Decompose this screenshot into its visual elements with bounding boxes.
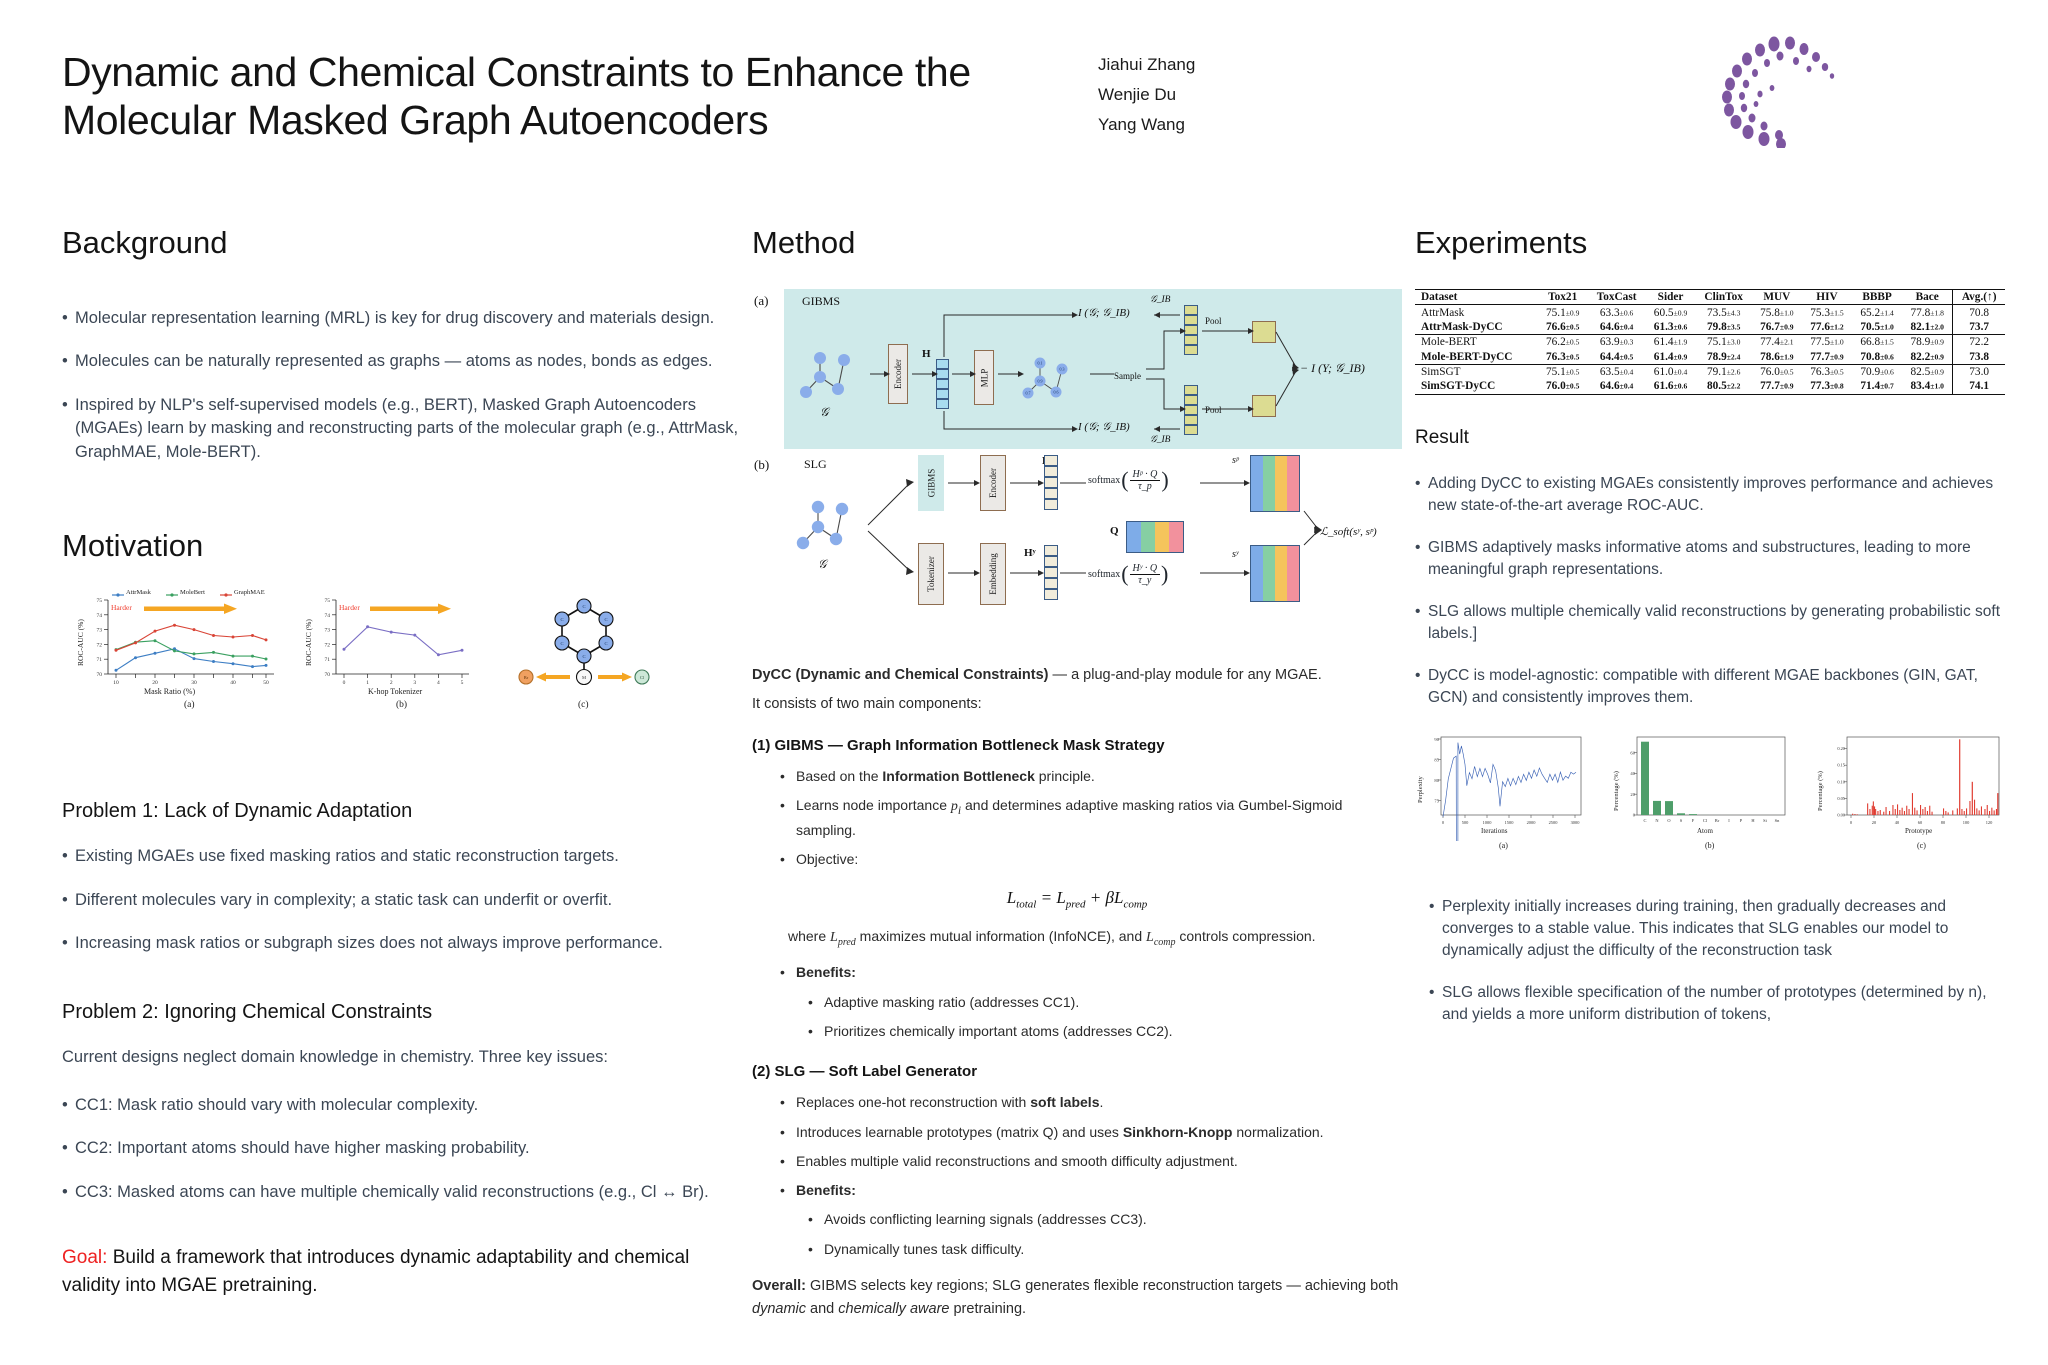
experiments-bottom-bullets: • Perplexity initially increases during … [1429, 896, 2015, 1026]
list-item: • Introduces learnable prototypes (matri… [780, 1122, 1402, 1142]
bullet-dot-icon: • [1415, 601, 1428, 645]
item-post: normalization. [1232, 1124, 1323, 1140]
dycc-name: DyCC (Dynamic and Chemical Constraints) [752, 667, 1049, 683]
svg-text:90: 90 [1434, 737, 1439, 742]
bullet-dot-icon: • [808, 1239, 824, 1259]
table-cell: 77.4±2.1 [1752, 335, 1802, 350]
panel-tag-c: (c) [578, 700, 589, 710]
col-bbbp: BBBP [1852, 290, 1902, 305]
list-item: • Objective: [780, 849, 1402, 869]
bullet-dot-icon: • [780, 1180, 796, 1200]
benefit-text: Dynamically tunes task difficulty. [824, 1239, 1024, 1259]
svg-text:5: 5 [461, 680, 464, 686]
svg-text:4: 4 [437, 680, 440, 686]
chart-annotation-harder: Harder [339, 603, 360, 612]
section-heading-background: Background [62, 225, 742, 261]
svg-text:N: N [1655, 818, 1659, 823]
problem-2-intro: Current designs neglect domain knowledge… [62, 1046, 742, 1069]
experiments-figure: 90858075 05001000 1500200025003000 Perpl… [1415, 731, 2005, 856]
svg-text:H: H [1751, 818, 1755, 823]
x-axis-label: Mask Ratio (%) [144, 687, 195, 696]
svg-text:60: 60 [1918, 820, 1923, 825]
table-cell: 61.0±0.4 [1645, 364, 1695, 379]
bullet-dot-icon: • [780, 1122, 796, 1142]
results-table: Dataset Tox21 ToxCast Sider ClinTox MUV … [1415, 289, 2005, 395]
author-list: Jiahui Zhang Wenjie Du Yang Wang [1098, 50, 1195, 139]
gibms-connectors [784, 289, 1402, 449]
y-axis-label: ROC-AUC (%) [304, 619, 313, 666]
table-cell: 71.4±0.7 [1852, 379, 1902, 394]
svg-text:85: 85 [1434, 757, 1439, 762]
bullet-dot-icon: • [808, 1021, 824, 1041]
table-cell: 70.8±0.6 [1852, 350, 1902, 365]
bullet-dot-icon: • [62, 394, 75, 464]
bullet-dot-icon: • [1415, 473, 1428, 517]
overall-italic-1: dynamic [752, 1301, 806, 1317]
svg-text:C: C [560, 617, 563, 622]
table-cell: 61.4±0.9 [1645, 350, 1695, 365]
svg-text:C: C [604, 617, 607, 622]
table-cell: 77.7±0.9 [1802, 350, 1852, 365]
problem-1-block: Problem 1: Lack of Dynamic Adaptation • … [62, 800, 742, 955]
table-cell: 75.1±0.5 [1538, 364, 1588, 379]
section-heading-experiments: Experiments [1415, 225, 2015, 261]
svg-text:72: 72 [97, 643, 103, 649]
overall-text: GIBMS selects key regions; SLG generates… [806, 1278, 1398, 1294]
table-row: AttrMask75.1±0.963.3±0.660.5±0.973.5±4.3… [1415, 305, 2005, 320]
table-cell: 70.9±0.6 [1852, 364, 1902, 379]
panel-tag-a: (a) [184, 700, 195, 710]
bullet-text: Inspired by NLP's self-supervised models… [75, 394, 742, 464]
section-heading-method: Method [752, 225, 1402, 261]
table-cell: 75.1±3.0 [1696, 335, 1752, 350]
table-cell: 82.2±0.9 [1902, 350, 1953, 365]
col-hiv: HIV [1802, 290, 1852, 305]
problem-2-heading: Problem 2: Ignoring Chemical Constraints [62, 1001, 742, 1024]
svg-text:C: C [582, 604, 585, 609]
bullet-dot-icon: • [808, 1209, 824, 1229]
svg-text:3000: 3000 [1571, 820, 1581, 825]
panel-tag-b: (b) [1705, 841, 1714, 850]
svg-text:I: I [1728, 818, 1730, 823]
chart-exp-a: 90858075 05001000 1500200025003000 Perpl… [1415, 731, 1585, 841]
table-cell: 75.8±1.0 [1752, 305, 1802, 320]
problem-1-heading: Problem 1: Lack of Dynamic Adaptation [62, 800, 742, 823]
table-cell: 78.9±0.9 [1902, 335, 1953, 350]
list-item: • Replaces one-hot reconstruction with s… [780, 1092, 1402, 1112]
background-bullets: • Molecular representation learning (MRL… [62, 307, 742, 464]
row-label: SimSGT [1415, 364, 1538, 379]
col-dataset: Dataset [1415, 290, 1538, 305]
svg-text:30: 30 [191, 680, 197, 686]
table-cell-avg: 73.7 [1953, 320, 2005, 335]
table-cell: 83.4±1.0 [1902, 379, 1953, 394]
section-heading-motivation: Motivation [62, 528, 742, 564]
col-tox21: Tox21 [1538, 290, 1588, 305]
dycc-desc: — a plug-and-play module for any MGAE. [1049, 667, 1322, 683]
list-item: • Avoids conflicting learning signals (a… [808, 1209, 1402, 1229]
bullet-dot-icon: • [780, 1092, 796, 1112]
svg-text:0: 0 [1442, 820, 1445, 825]
author-name: Wenjie Du [1098, 80, 1195, 110]
table-cell: 65.2±1.4 [1852, 305, 1902, 320]
svg-text:Br: Br [1715, 818, 1720, 823]
chart-exp-b: 0204060 [1611, 731, 1791, 841]
list-item: • CC3: Masked atoms can have multiple ch… [62, 1181, 742, 1204]
table-row: SimSGT-DyCC76.0±0.564.6±0.461.6±0.680.5±… [1415, 379, 2005, 394]
result-bullets: • Adding DyCC to existing MGAEs consiste… [1415, 473, 2015, 709]
bullet-dot-icon: • [62, 1094, 75, 1117]
poster-header: Dynamic and Chemical Constraints to Enha… [0, 0, 2048, 175]
svg-text:71: 71 [325, 657, 331, 663]
bullet-text: Increasing mask ratios or subgraph sizes… [75, 932, 663, 955]
author-name: Yang Wang [1098, 110, 1195, 140]
svg-text:120: 120 [1986, 820, 1993, 825]
list-item: • Enables multiple valid reconstructions… [780, 1151, 1402, 1171]
svg-text:Cl: Cl [1703, 818, 1708, 823]
svg-text:73: 73 [97, 628, 103, 634]
bullet-text: Different molecules vary in complexity; … [75, 889, 612, 912]
x-axis-label: Atom [1697, 827, 1713, 835]
legend-entry: MoleBert [180, 589, 205, 596]
table-row: Mole-BERT-DyCC76.3±0.564.4±0.561.4±0.978… [1415, 350, 2005, 365]
bullet-dot-icon: • [780, 766, 796, 786]
table-cell: 75.3±1.5 [1802, 305, 1852, 320]
svg-text:50: 50 [263, 680, 269, 686]
objective-formula: Ltotal = Lpred + βLcomp [752, 888, 1402, 910]
table-cell: 77.8±1.8 [1902, 305, 1953, 320]
list-item: • SLG allows flexible specification of t… [1429, 982, 2015, 1026]
table-cell: 76.6±0.5 [1538, 320, 1588, 335]
svg-text:100: 100 [1963, 820, 1970, 825]
neurips-logo: NEURAL INFORMATION PROCESSING SYSTEMS [1712, 36, 2012, 148]
item-bold: soft labels [1030, 1094, 1099, 1110]
table-cell: 60.5±0.9 [1645, 305, 1695, 320]
table-cell: 76.7±0.9 [1752, 320, 1802, 335]
table-row: AttrMask-DyCC76.6±0.564.6±0.461.3±0.679.… [1415, 320, 2005, 335]
y-axis-label: Perplexity [1417, 776, 1424, 803]
table-cell: 66.8±1.5 [1852, 335, 1902, 350]
bullet-dot-icon: • [62, 350, 75, 373]
row-label: SimSGT-DyCC [1415, 379, 1538, 394]
list-item: • CC1: Mask ratio should vary with molec… [62, 1094, 742, 1117]
bullet-dot-icon: • [780, 962, 796, 982]
item-bold: Information Bottleneck [882, 768, 1034, 784]
list-item: • CC2: Important atoms should have highe… [62, 1137, 742, 1160]
diagram-motivation-c: CCC CCC M Br Cl (c) [498, 592, 678, 690]
svg-text:F: F [1692, 818, 1695, 823]
problem-2-block: Problem 2: Ignoring Chemical Constraints… [62, 1001, 742, 1204]
column-experiments: Experiments Dataset Tox21 ToxCast Sider … [1415, 225, 2015, 1046]
table-cell: 64.4±0.5 [1588, 350, 1646, 365]
diagram-gibms: GIBMS 𝒢 Encoder H [784, 289, 1402, 449]
table-cell-avg: 74.1 [1953, 379, 2005, 394]
table-row: SimSGT75.1±0.563.5±0.461.0±0.479.1±2.676… [1415, 364, 2005, 379]
table-cell-avg: 72.2 [1953, 335, 2005, 350]
bullet-dot-icon: • [1429, 982, 1442, 1026]
list-item: • Increasing mask ratios or subgraph siz… [62, 932, 742, 955]
svg-text:500: 500 [1462, 820, 1469, 825]
list-item: • Inspired by NLP's self-supervised mode… [62, 394, 742, 464]
bullet-text: Perplexity initially increases during tr… [1442, 896, 2015, 962]
svg-text:40: 40 [1895, 820, 1900, 825]
col-bace: Bace [1902, 290, 1953, 305]
svg-text:P: P [1740, 818, 1743, 823]
svg-text:0: 0 [343, 680, 346, 686]
bullet-text: CC2: Important atoms should have higher … [75, 1137, 530, 1160]
svg-text:40: 40 [1630, 771, 1635, 776]
benefit-text: Prioritizes chemically important atoms (… [824, 1021, 1173, 1041]
y-axis-label: Percentage (%) [1613, 771, 1620, 811]
method-section1-heading: (1) GIBMS — Graph Information Bottleneck… [752, 737, 1402, 754]
svg-text:80: 80 [1941, 820, 1946, 825]
col-sider: Sider [1645, 290, 1695, 305]
table-cell: 61.4±1.9 [1645, 335, 1695, 350]
list-item: • SLG allows multiple chemically valid r… [1415, 601, 2015, 645]
result-heading: Result [1415, 427, 2015, 449]
chart-motivation-a: 707172 737475 102030 4050 [66, 592, 281, 690]
neurips-swirl-icon [1712, 36, 2012, 148]
item-italic: p [951, 799, 958, 814]
page-title: Dynamic and Chemical Constraints to Enha… [62, 48, 1072, 145]
svg-text:2500: 2500 [1549, 820, 1559, 825]
item-pre: Objective: [796, 849, 858, 869]
benefit-text: Adaptive masking ratio (addresses CC1). [824, 992, 1079, 1012]
bullet-dot-icon: • [62, 845, 75, 868]
table-row: Mole-BERT76.2±0.563.9±0.361.4±1.975.1±3.… [1415, 335, 2005, 350]
slg-connectors [752, 453, 1402, 643]
svg-text:C: C [604, 641, 607, 646]
y-axis-label: Percentage (%) [1817, 771, 1824, 811]
svg-text:70: 70 [97, 672, 103, 678]
bullet-dot-icon: • [62, 1181, 75, 1204]
panel-tag-a: (a) [754, 293, 768, 309]
table-cell: 77.7±0.9 [1752, 379, 1802, 394]
bullet-dot-icon: • [780, 795, 796, 840]
item-pre: Based on the [796, 768, 882, 784]
table-cell-avg: 70.8 [1953, 305, 2005, 320]
panel-tag-c: (c) [1917, 841, 1926, 850]
bullet-dot-icon: • [1429, 896, 1442, 962]
diagram-gibms-wrapper: (a) GIBMS 𝒢 Encoder H [752, 289, 1402, 449]
list-item: • GIBMS adaptively masks informative ato… [1415, 537, 2015, 581]
table-cell: 82.1±2.0 [1902, 320, 1953, 335]
row-label: AttrMask [1415, 305, 1538, 320]
chart-motivation-b: 707172 737475 012 345 [294, 592, 474, 690]
table-cell: 76.3±0.5 [1538, 350, 1588, 365]
list-item: • Molecules can be naturally represented… [62, 350, 742, 373]
bullet-text: CC3: Masked atoms can have multiple chem… [75, 1181, 709, 1204]
svg-text:0: 0 [1850, 820, 1853, 825]
svg-text:73: 73 [325, 628, 331, 634]
col-muv: MUV [1752, 290, 1802, 305]
list-item: • Benefits: [780, 1180, 1402, 1200]
panel-tag-a: (a) [1499, 841, 1508, 850]
table-cell-avg: 73.0 [1953, 364, 2005, 379]
row-label: AttrMask-DyCC [1415, 320, 1538, 335]
list-item: • Based on the Information Bottleneck pr… [780, 766, 1402, 786]
table-cell: 82.5±0.9 [1902, 364, 1953, 379]
table-cell: 64.6±0.4 [1588, 320, 1646, 335]
list-item: • Adaptive masking ratio (addresses CC1)… [808, 992, 1402, 1012]
table-cell: 77.3±0.8 [1802, 379, 1852, 394]
x-axis-label: Prototype [1905, 827, 1932, 835]
table-cell: 76.2±0.5 [1538, 335, 1588, 350]
col-clintox: ClinTox [1696, 290, 1752, 305]
motivation-figure: 707172 737475 102030 4050 [66, 592, 678, 712]
table-cell: 63.9±0.3 [1588, 335, 1646, 350]
method-intro: DyCC (Dynamic and Chemical Constraints) … [752, 665, 1402, 686]
goal-label: Goal: [62, 1247, 107, 1268]
bullet-text: DyCC is model-agnostic: compatible with … [1428, 665, 2015, 709]
x-axis-label: K-hop Tokenizer [368, 687, 422, 696]
item-pre: Enables multiple valid reconstructions a… [796, 1151, 1238, 1171]
list-item: • Learns node importance pi and determin… [780, 795, 1402, 840]
table-cell: 78.6±1.9 [1752, 350, 1802, 365]
svg-text:2: 2 [390, 680, 393, 686]
bullet-dot-icon: • [62, 307, 75, 330]
col-toxcast: ToxCast [1588, 290, 1646, 305]
svg-text:1: 1 [366, 680, 369, 686]
table-cell-avg: 73.8 [1953, 350, 2005, 365]
list-item: • Benefits: [780, 962, 1402, 982]
row-label: Mole-BERT-DyCC [1415, 350, 1538, 365]
y-axis-label: ROC-AUC (%) [76, 619, 85, 666]
bullet-text: Existing MGAEs use fixed masking ratios … [75, 845, 619, 868]
svg-text:Br: Br [524, 675, 529, 680]
list-item: • Dynamically tunes task difficulty. [808, 1239, 1402, 1259]
table-cell: 79.1±2.6 [1696, 364, 1752, 379]
goal-statement: Goal: Build a framework that introduces … [62, 1244, 742, 1299]
bullet-dot-icon: • [62, 932, 75, 955]
list-item: • Existing MGAEs use fixed masking ratio… [62, 845, 742, 868]
benefit-text: Avoids conflicting learning signals (add… [824, 1209, 1147, 1229]
panel-tag-b: (b) [396, 700, 407, 710]
item-pre: Introduces learnable prototypes (matrix … [796, 1124, 1123, 1140]
svg-text:72: 72 [325, 643, 331, 649]
table-cell: 76.0±0.5 [1538, 379, 1588, 394]
overall-italic-2: chemically aware [838, 1301, 949, 1317]
bullet-text: CC1: Mask ratio should vary with molecul… [75, 1094, 478, 1117]
col-avg: Avg.(↑) [1953, 290, 2005, 305]
table-body: AttrMask75.1±0.963.3±0.660.5±0.973.5±4.3… [1415, 305, 2005, 394]
table-cell: 75.1±0.9 [1538, 305, 1588, 320]
svg-text:74: 74 [325, 613, 331, 619]
list-item: • Prioritizes chemically important atoms… [808, 1021, 1402, 1041]
benefits-label: Benefits: [796, 1180, 856, 1200]
svg-text:O: O [1667, 818, 1670, 823]
list-item: • Different molecules vary in complexity… [62, 889, 742, 912]
benefits-label: Benefits: [796, 962, 856, 982]
item-post: principle. [1035, 768, 1095, 784]
legend-entry: AttrMask [126, 589, 151, 596]
chart-exp-c: 0.000.050.10 0.150.20 0204060 80100120 [1813, 731, 2005, 841]
svg-text:1500: 1500 [1505, 820, 1515, 825]
overall-end: pretraining. [949, 1301, 1026, 1317]
bullet-text: GIBMS adaptively masks informative atoms… [1428, 537, 2015, 581]
problem-1-bullets: • Existing MGAEs use fixed masking ratio… [62, 845, 742, 955]
bullet-dot-icon: • [62, 889, 75, 912]
svg-text:C: C [560, 641, 563, 646]
svg-text:60: 60 [1630, 750, 1635, 755]
author-name: Jiahui Zhang [1098, 50, 1195, 80]
svg-text:75: 75 [325, 598, 331, 604]
table-cell: 77.5±1.0 [1802, 335, 1852, 350]
svg-text:C: C [582, 654, 585, 659]
table-cell: 64.6±0.4 [1588, 379, 1646, 394]
table-cell: 77.6±1.2 [1802, 320, 1852, 335]
table-header-row: Dataset Tox21 ToxCast Sider ClinTox MUV … [1415, 290, 2005, 305]
table-cell: 76.0±0.5 [1752, 364, 1802, 379]
svg-text:75: 75 [1434, 798, 1439, 803]
svg-text:C: C [1644, 818, 1647, 823]
item-bold: Sinkhorn-Knopp [1123, 1124, 1233, 1140]
svg-text:Si: Si [1763, 818, 1767, 823]
table-cell: 79.8±3.5 [1696, 320, 1752, 335]
formula-note: where Lpred maximizes mutual information… [788, 926, 1402, 950]
svg-text:1000: 1000 [1483, 820, 1493, 825]
overall-mid: and [806, 1301, 838, 1317]
method-section2-heading: (2) SLG — Soft Label Generator [752, 1063, 1402, 1080]
svg-text:20: 20 [1872, 820, 1877, 825]
bullet-text: SLG allows flexible specification of the… [1442, 982, 2015, 1026]
table-cell: 80.5±2.2 [1696, 379, 1752, 394]
svg-text:2000: 2000 [1527, 820, 1537, 825]
item-post: . [1099, 1094, 1103, 1110]
bullet-text: Molecular representation learning (MRL) … [75, 307, 714, 330]
bullet-dot-icon: • [808, 992, 824, 1012]
bullet-dot-icon: • [780, 1151, 796, 1171]
bullet-dot-icon: • [780, 849, 796, 869]
legend-entry: GraphMAE [234, 589, 265, 596]
list-item: • Molecular representation learning (MRL… [62, 307, 742, 330]
svg-text:40: 40 [230, 680, 236, 686]
method-intro-line2: It consists of two main components: [752, 694, 1402, 715]
overall-label: Overall: [752, 1278, 806, 1294]
table-cell: 70.5±1.0 [1852, 320, 1902, 335]
bullet-dot-icon: • [1415, 537, 1428, 581]
column-method: Method (a) GIBMS 𝒢 Encoder [752, 225, 1402, 1329]
svg-text:70: 70 [325, 672, 331, 678]
problem-2-bullets: • CC1: Mask ratio should vary with molec… [62, 1094, 742, 1204]
table-cell: 76.3±0.5 [1802, 364, 1852, 379]
svg-text:Sn: Sn [1775, 818, 1780, 823]
x-axis-label: Iterations [1481, 827, 1507, 835]
row-label: Mole-BERT [1415, 335, 1538, 350]
bullet-text: Adding DyCC to existing MGAEs consistent… [1428, 473, 2015, 517]
svg-text:M: M [582, 675, 586, 680]
diagram-slg-wrapper: (b) SLG 𝒢 GIBMS Encoder Tokenizer Embedd… [752, 453, 1402, 643]
bullet-dot-icon: • [62, 1137, 75, 1160]
method-body: DyCC (Dynamic and Chemical Constraints) … [752, 665, 1402, 1321]
bullet-text: SLG allows multiple chemically valid rec… [1428, 601, 2015, 645]
table-cell: 73.5±4.3 [1696, 305, 1752, 320]
column-background-motivation: Background • Molecular representation le… [62, 225, 742, 1299]
table-cell: 78.9±2.4 [1696, 350, 1752, 365]
chart-annotation-harder: Harder [111, 603, 132, 612]
table-cell: 63.3±0.6 [1588, 305, 1646, 320]
list-item: • Perplexity initially increases during … [1429, 896, 2015, 962]
item-pre: Replaces one-hot reconstruction with [796, 1094, 1030, 1110]
table-cell: 61.3±0.6 [1645, 320, 1695, 335]
table-cell: 63.5±0.4 [1588, 364, 1646, 379]
svg-text:75: 75 [97, 598, 103, 604]
svg-text:10: 10 [113, 680, 119, 686]
bullet-dot-icon: • [1415, 665, 1428, 709]
table-cell: 61.6±0.6 [1645, 379, 1695, 394]
method-overall: Overall: GIBMS selects key regions; SLG … [752, 1275, 1402, 1321]
svg-text:20: 20 [152, 680, 158, 686]
